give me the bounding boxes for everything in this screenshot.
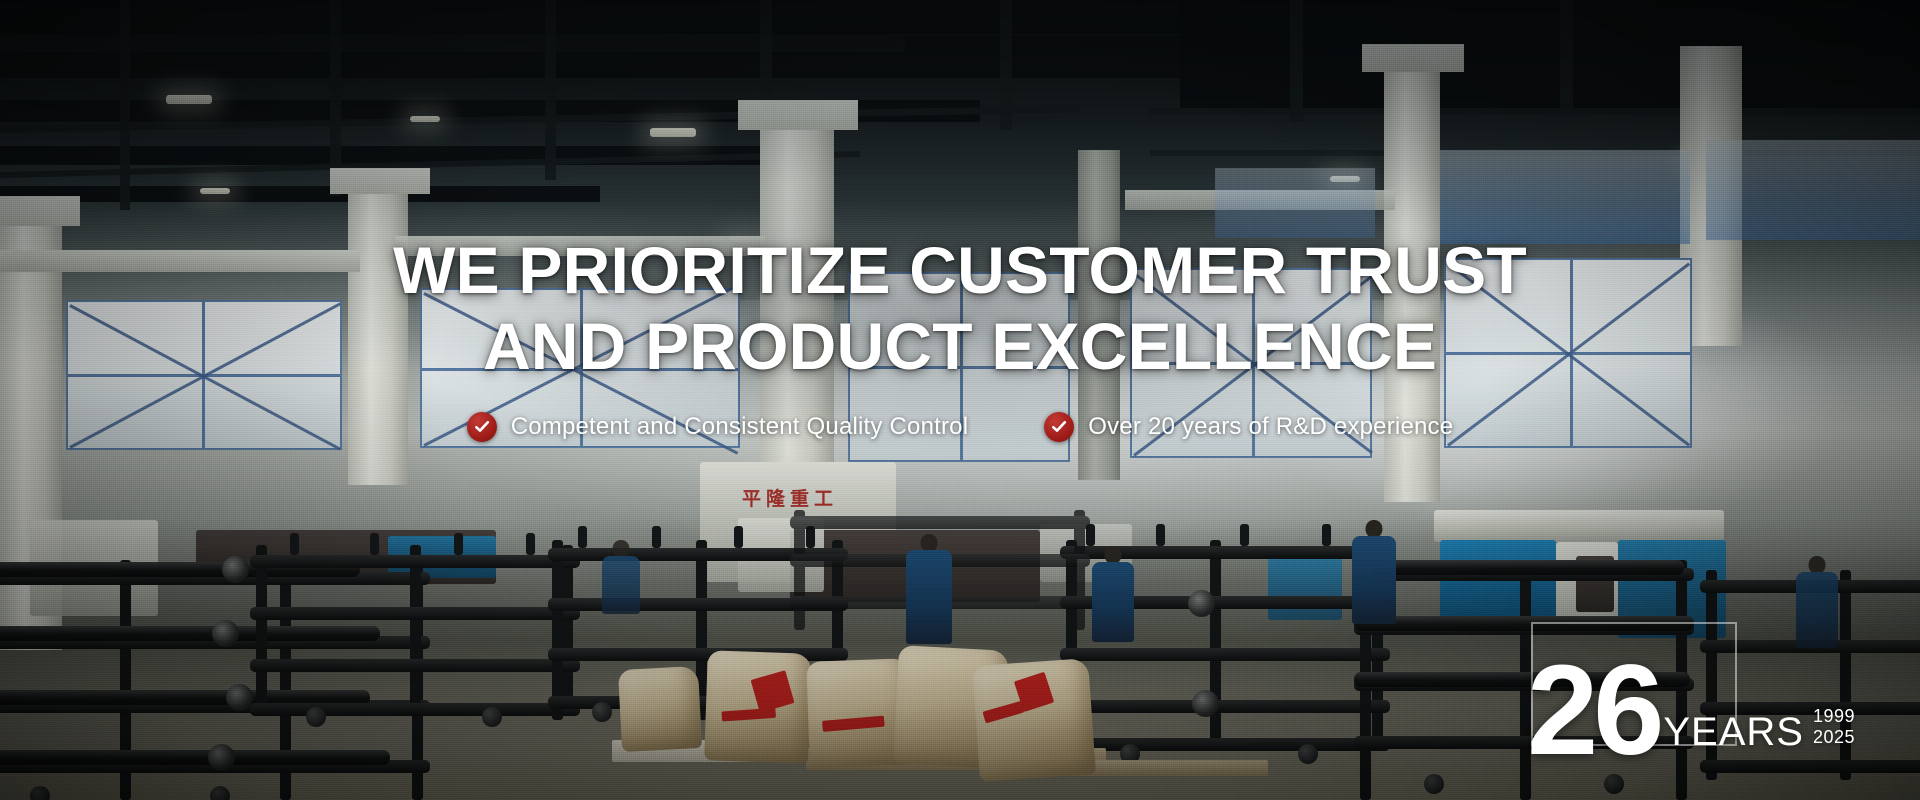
anniversary-badge: 26 YEARS 1999 2025 xyxy=(1531,622,1737,746)
feature-bullet-label: Over 20 years of R&D experience xyxy=(1088,413,1453,441)
anniversary-meta: YEARS 1999 2025 xyxy=(1663,707,1855,762)
feature-bullet-label: Competent and Consistent Quality Control xyxy=(511,413,969,441)
anniversary-number: 26 xyxy=(1527,660,1659,762)
headline-line-2: AND PRODUCT EXCELLENCE xyxy=(0,308,1920,384)
anniversary-date-to: 2025 xyxy=(1813,728,1855,747)
feature-bullet-rd-experience: Over 20 years of R&D experience xyxy=(1044,412,1453,442)
anniversary-date-from: 1999 xyxy=(1813,707,1855,726)
hero-banner: 平隆重工 xyxy=(0,0,1920,800)
page-title: WE PRIORITIZE CUSTOMER TRUST AND PRODUCT… xyxy=(0,232,1920,384)
check-circle-icon xyxy=(467,412,497,442)
anniversary-unit-label: YEARS xyxy=(1663,714,1804,750)
anniversary-badge-content: 26 YEARS 1999 2025 xyxy=(1511,614,1761,762)
feature-bullets: Competent and Consistent Quality Control… xyxy=(0,412,1920,442)
anniversary-date-range: 1999 2025 xyxy=(1813,707,1855,750)
check-circle-icon xyxy=(1044,412,1074,442)
hero-overlay: WE PRIORITIZE CUSTOMER TRUST AND PRODUCT… xyxy=(0,0,1920,800)
headline-line-1: WE PRIORITIZE CUSTOMER TRUST xyxy=(0,232,1920,308)
feature-bullet-quality-control: Competent and Consistent Quality Control xyxy=(467,412,969,442)
